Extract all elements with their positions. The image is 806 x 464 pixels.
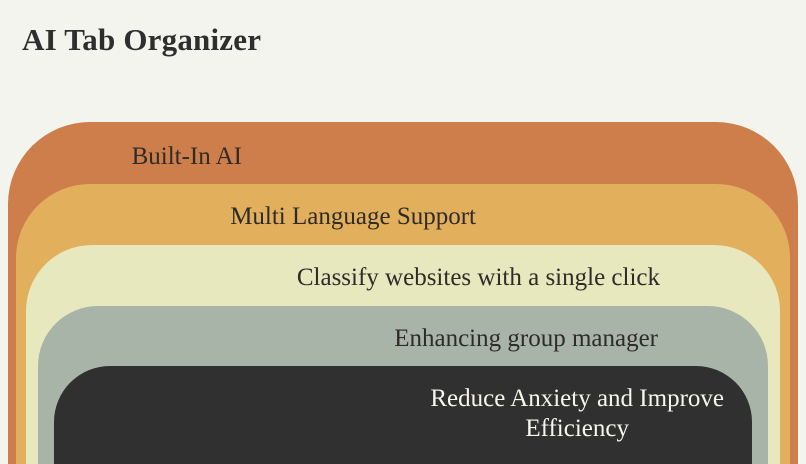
- arch-layer-label: Multi Language Support: [230, 184, 790, 232]
- arch-layer-label: Enhancing group manager: [394, 306, 768, 354]
- arch-layer-5: Reduce Anxiety and Improve Efficiency: [54, 366, 752, 464]
- arch-layer-label: Reduce Anxiety and Improve Efficiency: [430, 366, 752, 443]
- arch-layer-label: Classify websites with a single click: [297, 245, 780, 293]
- slide-canvas: AI Tab Organizer Built-In AI Multi Langu…: [0, 0, 806, 464]
- arch-stack-diagram: Built-In AI Multi Language Support Class…: [0, 0, 806, 464]
- arch-layer-label: Built-In AI: [132, 122, 798, 172]
